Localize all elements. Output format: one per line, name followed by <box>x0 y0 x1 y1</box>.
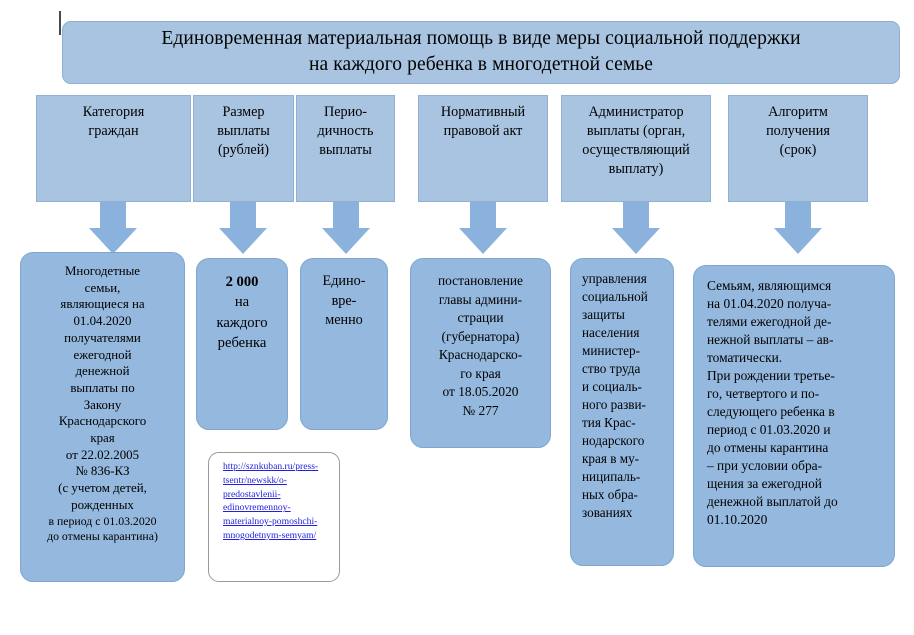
flowchart-canvas: Единовременная материальная помощь в вид… <box>0 0 914 635</box>
header-line: граждан <box>83 122 144 141</box>
column-header-administrator-vyplaty: Администратор выплаты (орган, осуществля… <box>561 95 711 202</box>
cell-kategoriya-grazhdan: Многодетные семьи, являющиеся на 01.04.2… <box>20 252 185 582</box>
chart-title-banner: Единовременная материальная помощь в вид… <box>62 21 900 84</box>
cell-line: денежной выплатой до <box>707 493 889 511</box>
cell-line: выплаты по <box>26 380 179 397</box>
header-line: правовой акт <box>441 122 525 141</box>
cell-line: края <box>26 430 179 447</box>
header-line: Категория <box>83 103 144 122</box>
cell-line: защиты <box>582 306 669 324</box>
chart-title-line-2: на каждого ребенка в многодетной семье <box>161 52 800 77</box>
cell-line: главы админи- <box>416 291 545 310</box>
cell-line: № 277 <box>416 402 545 421</box>
source-url-link[interactable]: http://sznkuban.ru/press- tsentr/newskk/… <box>223 460 331 543</box>
cell-line: При рождении третье- <box>707 367 889 385</box>
arrow-down-razmer-vyplaty <box>212 202 274 254</box>
title-marker-line <box>59 11 61 35</box>
cell-line: ных обра- <box>582 486 669 504</box>
cell-line: тия Крас- <box>582 414 669 432</box>
url-line: http://sznkuban.ru/press- <box>223 460 331 474</box>
header-line: (рублей) <box>217 141 270 160</box>
cell-line: Многодетные <box>26 263 179 280</box>
cell-line: следующего ребенка в <box>707 403 889 421</box>
cell-line: денежной <box>26 363 179 380</box>
cell-line: го края <box>416 365 545 384</box>
cell-line: Семьям, являющимся <box>707 277 889 295</box>
header-line: Администратор <box>582 103 690 122</box>
cell-line: Закону <box>26 397 179 414</box>
arrow-down-administrator-vyplaty <box>605 202 667 254</box>
column-header-algoritm-polucheniya: Алгоритм получения (срок) <box>728 95 868 202</box>
cell-line: Краснодарско- <box>416 346 545 365</box>
cell-line: 01.04.2020 <box>26 313 179 330</box>
header-line: выплату) <box>582 160 690 179</box>
header-line: Перио- <box>318 103 374 122</box>
cell-line: семьи, <box>26 280 179 297</box>
arrow-down-normativnyy-pravovoy-akt <box>452 202 514 254</box>
cell-line: от 18.05.2020 <box>416 383 545 402</box>
cell-administrator-vyplaty: управления социальной защиты населения м… <box>570 258 674 566</box>
cell-line: зованиях <box>582 504 669 522</box>
cell-line: каждого <box>202 313 282 333</box>
cell-line: нежной выплаты – ав- <box>707 331 889 349</box>
cell-line: № 836-КЗ <box>26 463 179 480</box>
arrow-down-algoritm-polucheniya <box>767 202 829 254</box>
column-header-normativnyy-pravovoy-akt: Нормативный правовой акт <box>418 95 548 202</box>
cell-line: менно <box>306 311 382 331</box>
cell-line: ежегодной <box>26 347 179 364</box>
cell-line: го, четвертого и по- <box>707 385 889 403</box>
cell-line: (губернатора) <box>416 328 545 347</box>
cell-line: являющиеся на <box>26 296 179 313</box>
cell-line: от 22.02.2005 <box>26 447 179 464</box>
url-line: materialnoy-pomoshchi- <box>223 515 331 529</box>
cell-line: края в му- <box>582 450 669 468</box>
header-line: Размер <box>217 103 270 122</box>
cell-line: на <box>202 292 282 312</box>
cell-line: период с 01.03.2020 и <box>707 421 889 439</box>
header-line: Алгоритм <box>766 103 830 122</box>
cell-line: и социаль- <box>582 378 669 396</box>
header-line: выплаты (орган, <box>582 122 690 141</box>
column-header-periodichnost-vyplaty: Перио- дичность выплаты <box>296 95 395 202</box>
cell-line: нодарского <box>582 432 669 450</box>
cell-line: постановление <box>416 272 545 291</box>
header-line: осуществляющий <box>582 141 690 160</box>
cell-line: 01.10.2020 <box>707 511 889 529</box>
chart-title-line-1: Единовременная материальная помощь в вид… <box>161 26 800 51</box>
cell-line: до отмены карантина <box>707 439 889 457</box>
cell-line: страции <box>416 309 545 328</box>
header-line: получения <box>766 122 830 141</box>
url-line: tsentr/newskk/o- <box>223 474 331 488</box>
cell-line: – при условии обра- <box>707 457 889 475</box>
column-header-razmer-vyplaty: Размер выплаты (рублей) <box>193 95 294 202</box>
cell-normativnyy-pravovoy-akt: постановление главы админи- страции (губ… <box>410 258 551 448</box>
header-line: дичность <box>318 122 374 141</box>
source-url-card: http://sznkuban.ru/press- tsentr/newskk/… <box>208 452 340 582</box>
header-line: Нормативный <box>441 103 525 122</box>
cell-line: в период с 01.03.2020 <box>26 514 179 529</box>
cell-line: Краснодарского <box>26 413 179 430</box>
arrow-down-kategoriya-grazhdan <box>82 202 144 254</box>
column-header-kategoriya-grazhdan: Категория граждан <box>36 95 191 202</box>
cell-line: вре- <box>306 292 382 312</box>
cell-line: социальной <box>582 288 669 306</box>
cell-line: щения за ежегодной <box>707 475 889 493</box>
cell-line: телями ежегодной де- <box>707 313 889 331</box>
url-line: edinovremennoy- <box>223 501 331 515</box>
cell-line: ство труда <box>582 360 669 378</box>
cell-algoritm-polucheniya: Семьям, являющимся на 01.04.2020 получа-… <box>693 265 895 567</box>
cell-line: министер- <box>582 342 669 360</box>
cell-line: ного разви- <box>582 396 669 414</box>
url-line: mnogodetnym-semyam/ <box>223 529 331 543</box>
cell-razmer-vyplaty: 2 000 на каждого ребенка <box>196 258 288 430</box>
cell-line: томатически. <box>707 349 889 367</box>
cell-line: (с учетом детей, <box>26 480 179 497</box>
cell-line: рожденных <box>26 497 179 514</box>
payment-amount-value: 2 000 <box>202 272 282 292</box>
header-line: выплаты <box>217 122 270 141</box>
cell-line: управления <box>582 270 669 288</box>
cell-line: получателями <box>26 330 179 347</box>
url-line: predostavlenii- <box>223 488 331 502</box>
arrow-down-periodichnost-vyplaty <box>315 202 377 254</box>
header-line: (срок) <box>766 141 830 160</box>
cell-line: ребенка <box>202 333 282 353</box>
header-line: выплаты <box>318 141 374 160</box>
cell-line: населения <box>582 324 669 342</box>
cell-line: Едино- <box>306 272 382 292</box>
cell-periodichnost-vyplaty: Едино- вре- менно <box>300 258 388 430</box>
cell-line: до отмены карантина) <box>26 529 179 544</box>
cell-line: ниципаль- <box>582 468 669 486</box>
cell-line: на 01.04.2020 получа- <box>707 295 889 313</box>
